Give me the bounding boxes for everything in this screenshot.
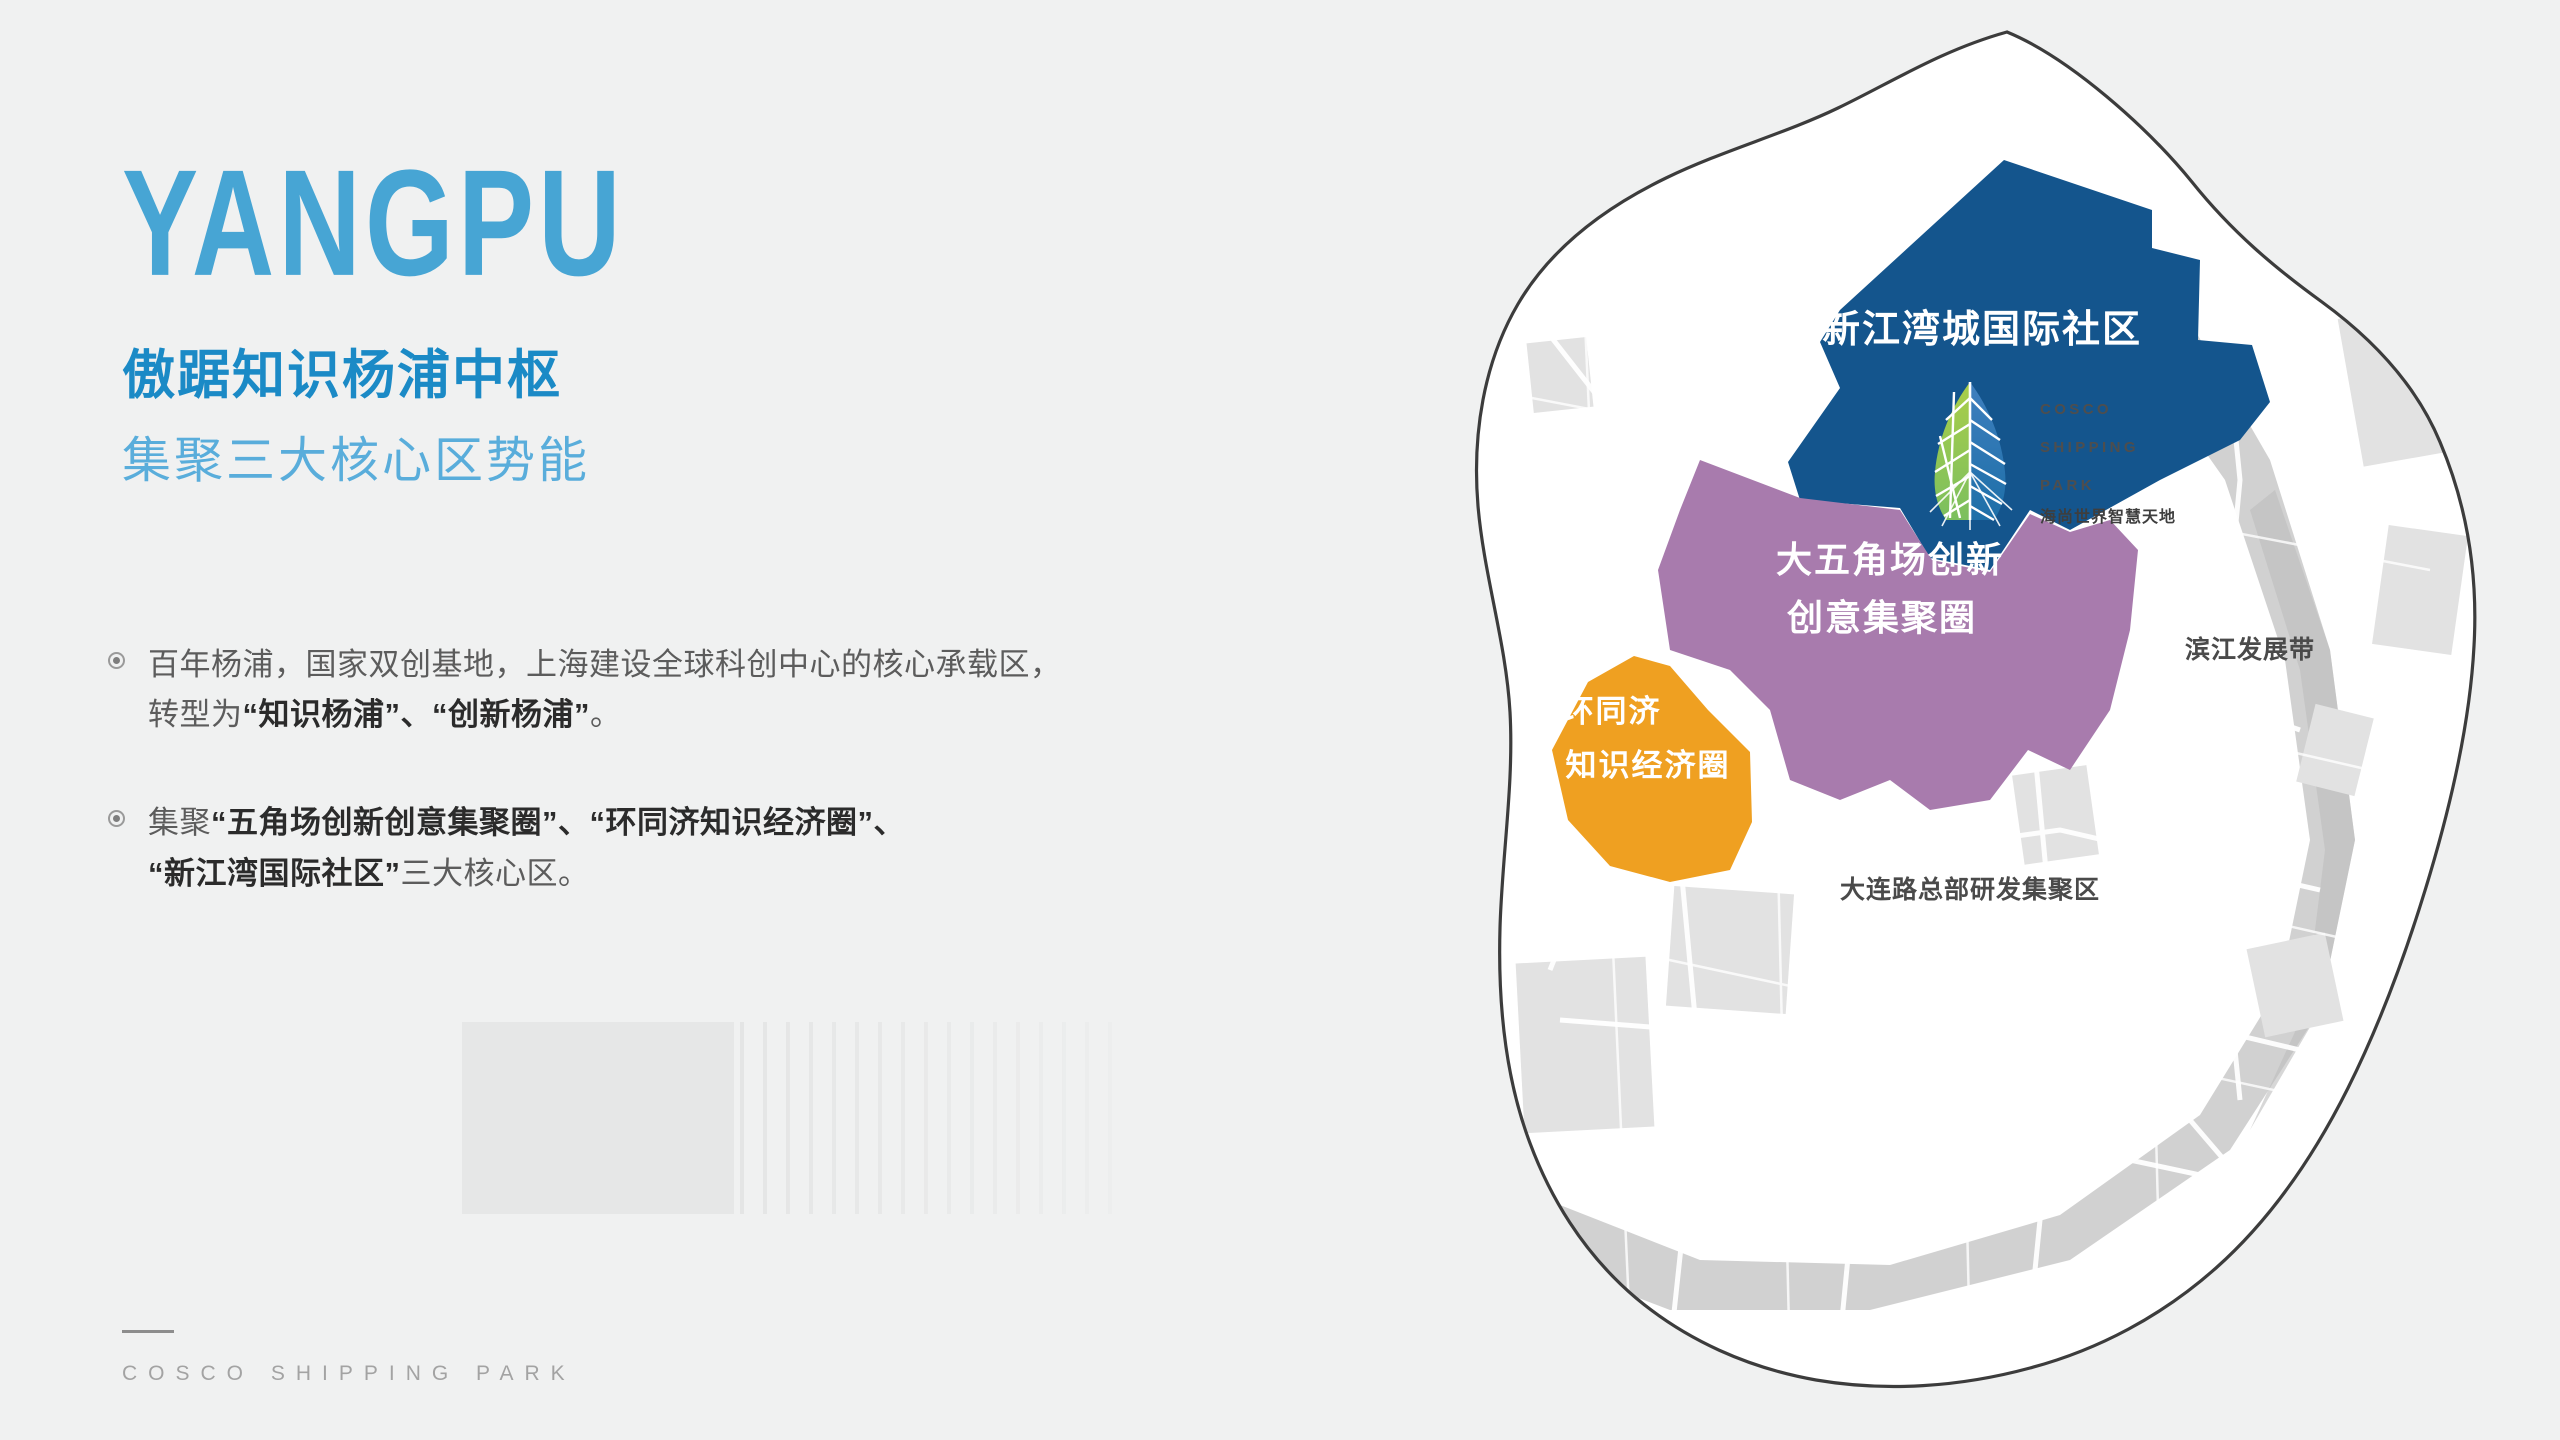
- bullet-2-line-1-prefix: 集聚: [148, 805, 211, 840]
- ring-bullet-icon: [108, 810, 125, 827]
- cosco-logo-line-1: COSCO: [2040, 401, 2112, 418]
- page-title-wordmark: YANGPU: [122, 148, 625, 299]
- bullet-2-line-2-strong: “新江湾国际社区”: [148, 856, 401, 891]
- bullet-1-line-2-prefix: 转型为: [148, 697, 243, 732]
- bullet-1-line-1: 百年杨浦，国家双创基地，上海建设全球科创中心的核心承载区，: [148, 647, 1062, 682]
- decorative-solid-block: [462, 1022, 734, 1214]
- bullet-1-line-2-suffix: 。: [590, 697, 622, 732]
- cosco-logo-line-3: PARK: [2040, 477, 2095, 494]
- yangpu-district-map: 新江湾城国际社区 大五角场创新 创意集聚圈 环同济 知识经济圈 滨江发展带 大连…: [1370, 10, 2560, 1430]
- map-annotation-binjiang: 滨江发展带: [2185, 635, 2315, 664]
- list-item-text: 百年杨浦，国家双创基地，上海建设全球科创中心的核心承载区， 转型为“知识杨浦”、…: [148, 640, 1260, 740]
- cosco-logo-line-2: SHIPPING: [2040, 439, 2139, 456]
- list-item: 集聚“五角场创新创意集聚圈”、“环同济知识经济圈”、 “新江湾国际社区”三大核心…: [100, 798, 1260, 898]
- bullet-2-line-1-strong: “五角场创新创意集聚圈”、“环同济知识经济圈”、: [211, 805, 905, 840]
- cosco-logo-line-cn: 海尚世界智慧天地: [2040, 507, 2176, 526]
- decorative-stripes: [740, 1022, 1122, 1214]
- map-region-label-wujiaochang-line2: 创意集聚圈: [1787, 597, 1977, 638]
- map-region-label-xinjiangwan: 新江湾城国际社区: [1822, 308, 2142, 351]
- bullet-1-line-2-strong: “知识杨浦”、“创新杨浦”: [243, 697, 591, 732]
- list-item-text: 集聚“五角场创新创意集聚圈”、“环同济知识经济圈”、 “新江湾国际社区”三大核心…: [148, 798, 1260, 898]
- map-region-label-huantongji-line2: 知识经济圈: [1566, 748, 1731, 783]
- footer-divider: [122, 1330, 174, 1333]
- bullet-2-line-2-suffix: 三大核心区。: [401, 856, 590, 891]
- map-region-label-huantongji-line1: 环同济: [1563, 694, 1662, 729]
- list-item: 百年杨浦，国家双创基地，上海建设全球科创中心的核心承载区， 转型为“知识杨浦”、…: [100, 640, 1260, 740]
- map-annotation-dalianlu: 大连路总部研发集聚区: [1840, 875, 2100, 904]
- bullet-list: 百年杨浦，国家双创基地，上海建设全球科创中心的核心承载区， 转型为“知识杨浦”、…: [100, 640, 1260, 957]
- decorative-stripe-graphic: [462, 1022, 1122, 1214]
- ring-bullet-icon: [108, 652, 125, 669]
- subheadline: 集聚三大核心区势能: [122, 432, 590, 491]
- left-content-panel: YANGPU 傲踞知识杨浦中枢 集聚三大核心区势能 百年杨浦，国家双创基地，上海…: [0, 0, 1330, 1440]
- footer-brand-mark: COSCO SHIPPING PARK: [122, 1362, 576, 1386]
- headline: 傲踞知识杨浦中枢: [122, 345, 562, 408]
- map-region-label-wujiaochang-line1: 大五角场创新: [1776, 539, 2004, 580]
- slide-canvas: YANGPU 傲踞知识杨浦中枢 集聚三大核心区势能 百年杨浦，国家双创基地，上海…: [0, 0, 2560, 1440]
